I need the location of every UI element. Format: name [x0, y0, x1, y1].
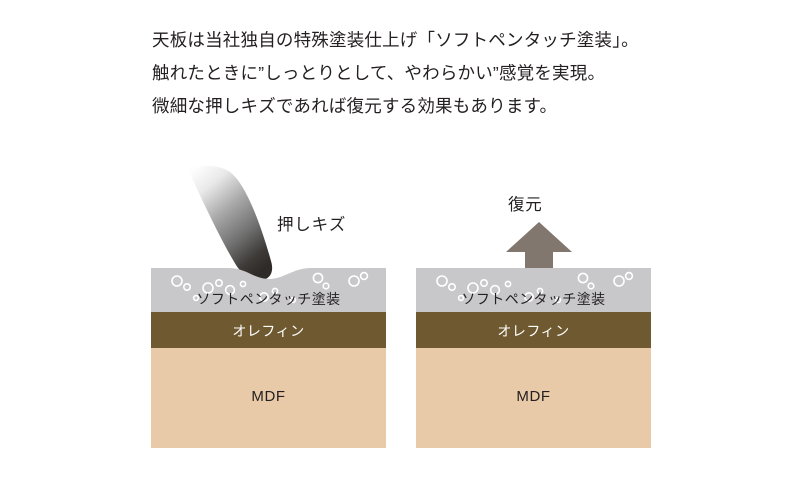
layer-olefin-left: オレフィン — [151, 312, 386, 348]
layer-coating-left: ソフトペンタッチ塗装 — [151, 262, 386, 312]
layer-label-coating-right: ソフトペンタッチ塗装 — [416, 289, 651, 309]
layer-label-mdf-right: MDF — [416, 388, 651, 405]
panel-left-dented: ソフトペンタッチ塗装 オレフィン MDF — [151, 262, 386, 448]
layer-label-coating-left: ソフトペンタッチ塗装 — [151, 289, 386, 309]
layer-olefin-right: オレフィン — [416, 312, 651, 348]
panel-right-restored: ソフトペンタッチ塗装 オレフィン MDF — [416, 262, 651, 448]
restore-callout-label: 復元 — [508, 191, 543, 215]
layer-mdf-left: MDF — [151, 348, 386, 448]
layer-coating-right: ソフトペンタッチ塗装 — [416, 262, 651, 312]
layer-label-olefin-left: オレフィン — [151, 321, 386, 341]
dent-callout-label: 押しキズ — [277, 211, 346, 235]
cross-section-diagram: 押しキズ 復元 — [0, 0, 800, 495]
layer-mdf-right: MDF — [416, 348, 651, 448]
layer-label-olefin-right: オレフィン — [416, 321, 651, 341]
layer-label-mdf-left: MDF — [151, 388, 386, 405]
